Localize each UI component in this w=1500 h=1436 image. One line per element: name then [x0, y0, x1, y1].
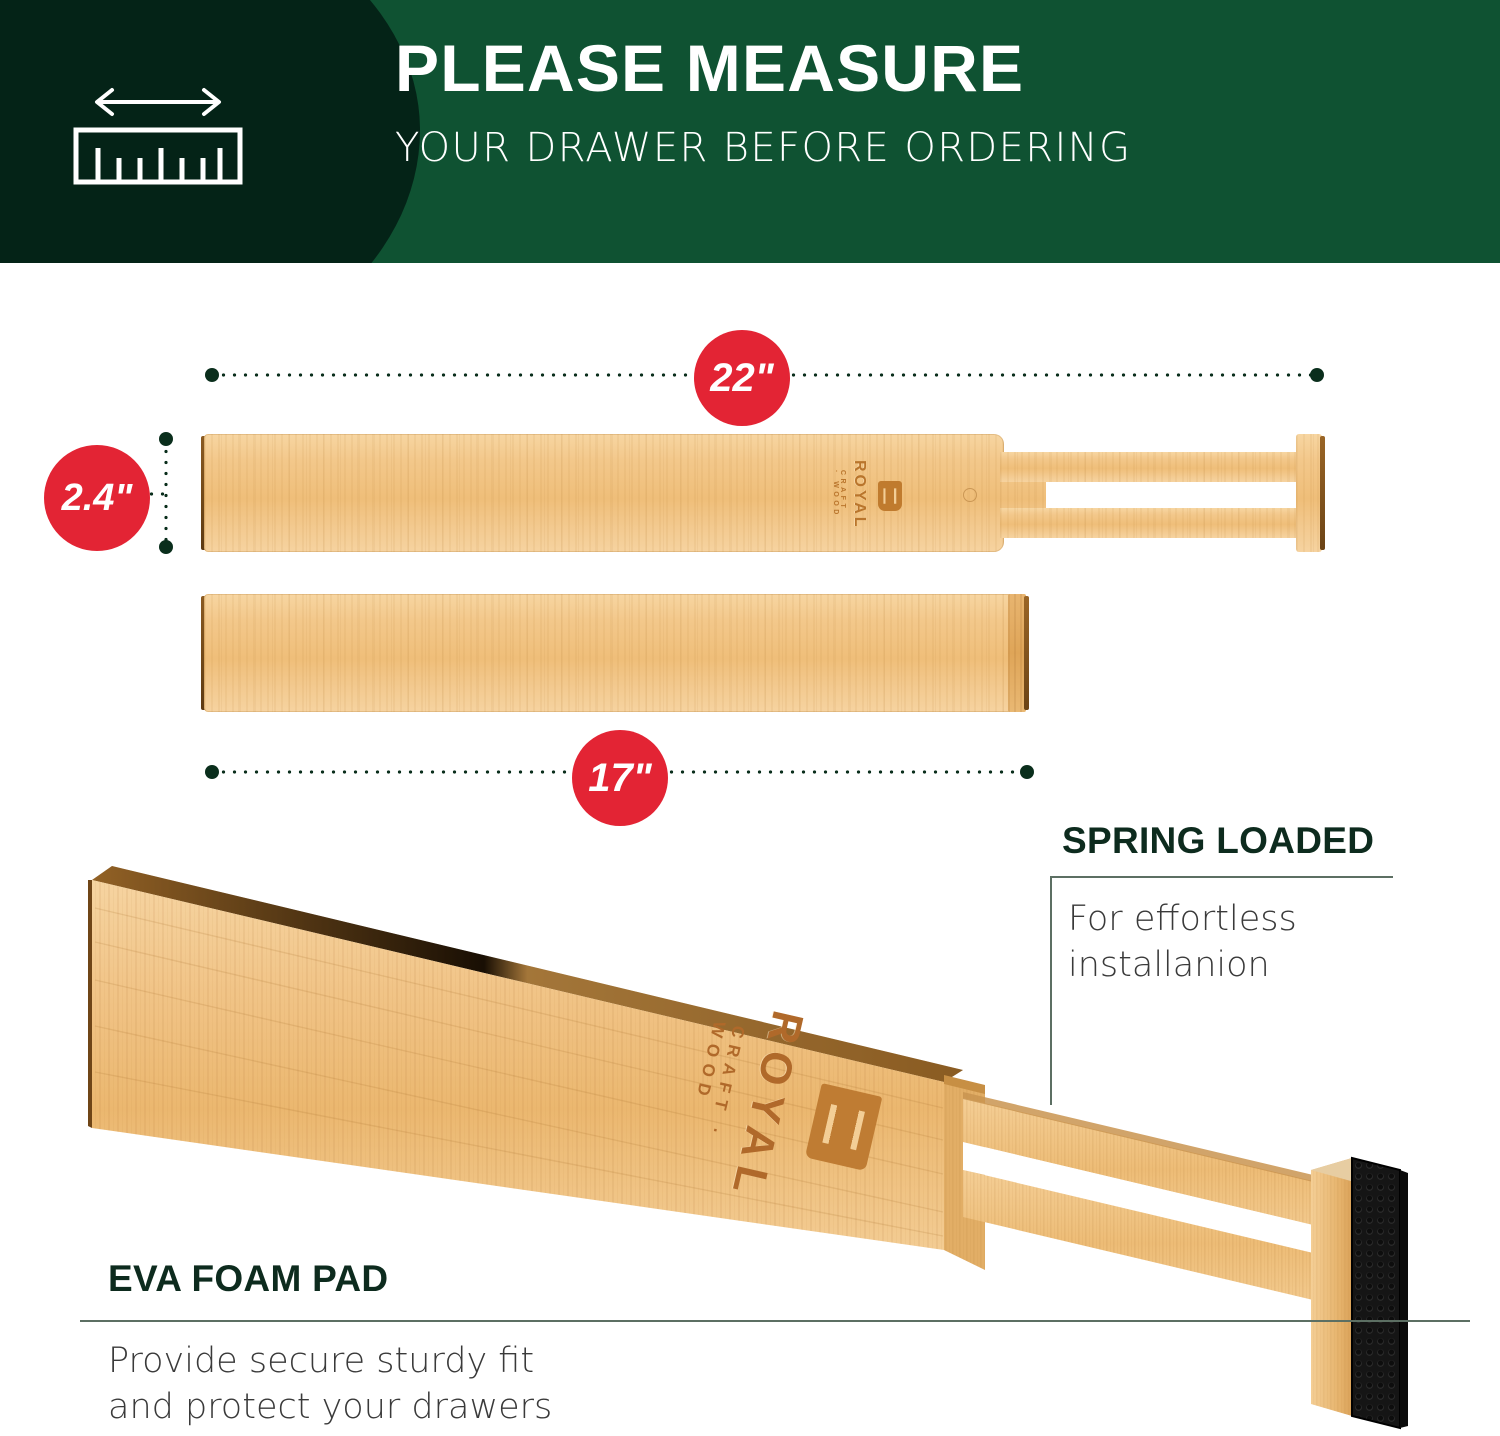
dim-17-line-left	[218, 770, 574, 774]
divider-expanded-arm-bottom-rail	[1000, 508, 1302, 538]
divider-expanded-end-cap	[1296, 434, 1322, 552]
banner-title: PLEASE MEASURE	[395, 34, 1395, 103]
callout-eva-foam-pad-body-line1: Provide secure sturdy fit	[108, 1340, 534, 1383]
brand-logo-small: CRAFT · WOOD ROYAL	[832, 448, 940, 544]
dim-17-right-endpoint	[1020, 765, 1034, 779]
infographic-root: PLEASE MEASURE YOUR DRAWER BEFORE ORDERI…	[0, 0, 1500, 1436]
divider-expanded-slot	[1046, 482, 1294, 508]
dimension-badge-24: 2.4"	[44, 445, 150, 551]
callout-eva-foam-pad-body-line2: and protect your drawers	[108, 1386, 552, 1429]
divider-expanded-screw-hole	[963, 488, 977, 502]
callout-eva-foam-pad-rule-h	[80, 1320, 1470, 1322]
dimension-badge-17: 17"	[572, 730, 668, 826]
brand-name-small: ROYAL	[850, 460, 868, 532]
brand-tagline-small: CRAFT · WOOD	[832, 470, 846, 522]
header-banner: PLEASE MEASURE YOUR DRAWER BEFORE ORDERI…	[0, 0, 1500, 263]
eva-foam-pad	[1352, 1158, 1400, 1428]
hero-board-left-edge	[88, 880, 92, 1128]
dim-22-line-left	[218, 373, 696, 377]
dim-22-right-endpoint	[1310, 368, 1324, 382]
dim-22-line-right	[788, 373, 1312, 377]
callout-spring-loaded-rule-h	[1050, 876, 1393, 878]
divider-collapsed-end-cap-edge	[1024, 596, 1029, 710]
dimension-badge-22: 22"	[694, 330, 790, 426]
callout-eva-foam-pad-title: EVA FOAM PAD	[108, 1258, 388, 1300]
callout-spring-loaded-title: SPRING LOADED	[1062, 820, 1374, 862]
brand-crest-icon-hero	[805, 1083, 883, 1171]
dim-24-top-endpoint	[159, 432, 173, 446]
banner-text-block: PLEASE MEASURE YOUR DRAWER BEFORE ORDERI…	[395, 34, 1395, 171]
callout-spring-loaded-body-line1: For effortless	[1068, 898, 1297, 941]
divider-expanded-end-cap-edge	[1320, 436, 1325, 550]
banner-subtitle: YOUR DRAWER BEFORE ORDERING	[395, 125, 1395, 171]
callout-spring-loaded-body-line2: installanion	[1068, 944, 1270, 987]
dim-17-line-right	[666, 770, 1022, 774]
dim-24-bottom-endpoint	[159, 540, 173, 554]
brand-crest-icon-small	[878, 481, 902, 511]
divider-collapsed-body	[204, 594, 1014, 712]
dim-17-left-endpoint	[205, 765, 219, 779]
ruler-measure-icon	[68, 72, 248, 192]
dim-22-left-endpoint	[205, 368, 219, 382]
callout-spring-loaded-rule-v	[1050, 876, 1052, 1105]
divider-expanded-arm-top-rail	[1000, 452, 1302, 482]
